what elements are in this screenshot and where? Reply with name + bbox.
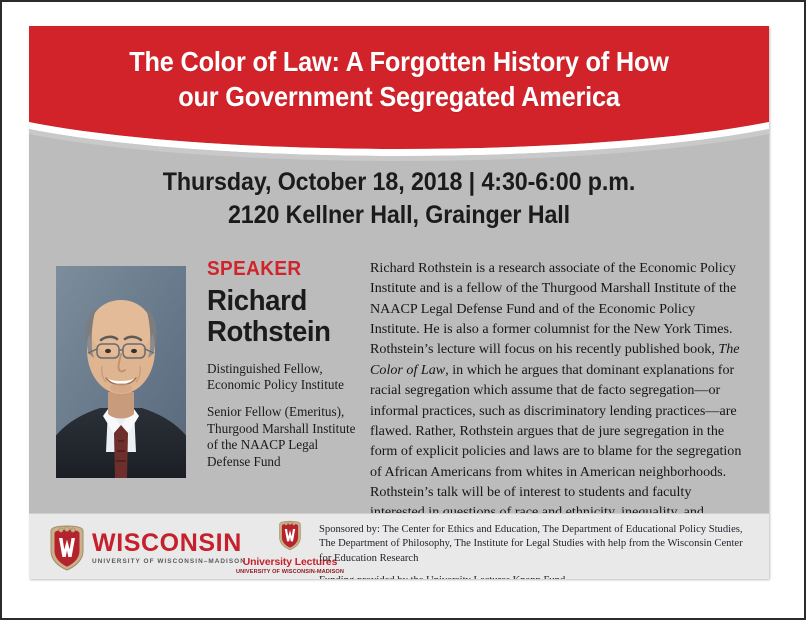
speaker-description: Richard Rothstein is a research associat… <box>370 258 745 543</box>
poster-page: The Color of Law: A Forgotten History of… <box>0 0 806 620</box>
speaker-kicker-label: SPEAKER <box>207 258 354 281</box>
sponsor-information: Sponsored by: The Center for Ethics and … <box>319 523 749 579</box>
uw-wordmark-subtitle: UNIVERSITY OF WISCONSIN–MADISON <box>92 558 246 565</box>
speaker-details: SPEAKER Richard Rothstein Distinguished … <box>207 258 362 480</box>
uw-madison-logo: WISCONSIN UNIVERSITY OF WISCONSIN–MADISO… <box>47 525 246 571</box>
event-poster: The Color of Law: A Forgotten History of… <box>29 26 769 579</box>
speaker-affiliation-primary: Distinguished Fellow, Economic Policy In… <box>207 361 362 394</box>
sponsors-text: Sponsored by: The Center for Ethics and … <box>319 523 749 566</box>
speaker-portrait-illustration <box>56 266 186 478</box>
uw-crest-small-icon <box>277 520 303 551</box>
description-paragraph: Richard Rothstein is a research associat… <box>370 258 745 543</box>
poster-title: The Color of Law: A Forgotten History of… <box>59 44 740 114</box>
poster-footer: WISCONSIN UNIVERSITY OF WISCONSIN–MADISO… <box>29 513 769 579</box>
poster-banner: The Color of Law: A Forgotten History of… <box>29 26 769 161</box>
uw-crest-icon <box>47 525 87 571</box>
uw-wordmark-name: WISCONSIN <box>92 531 246 556</box>
funding-text: Funding provided by the University Lectu… <box>319 574 749 579</box>
description-part-one: Richard Rothstein is a research associat… <box>370 260 736 357</box>
speaker-photo <box>56 266 186 478</box>
event-datetime-location: Thursday, October 18, 2018 | 4:30-6:00 p… <box>55 166 743 232</box>
poster-content: SPEAKER Richard Rothstein Distinguished … <box>29 258 769 514</box>
speaker-affiliation-secondary: Senior Fellow (Emeritus), Thurgood Marsh… <box>207 404 362 471</box>
uw-wordmark: WISCONSIN UNIVERSITY OF WISCONSIN–MADISO… <box>92 531 246 565</box>
speaker-name: Richard Rothstein <box>207 286 354 349</box>
